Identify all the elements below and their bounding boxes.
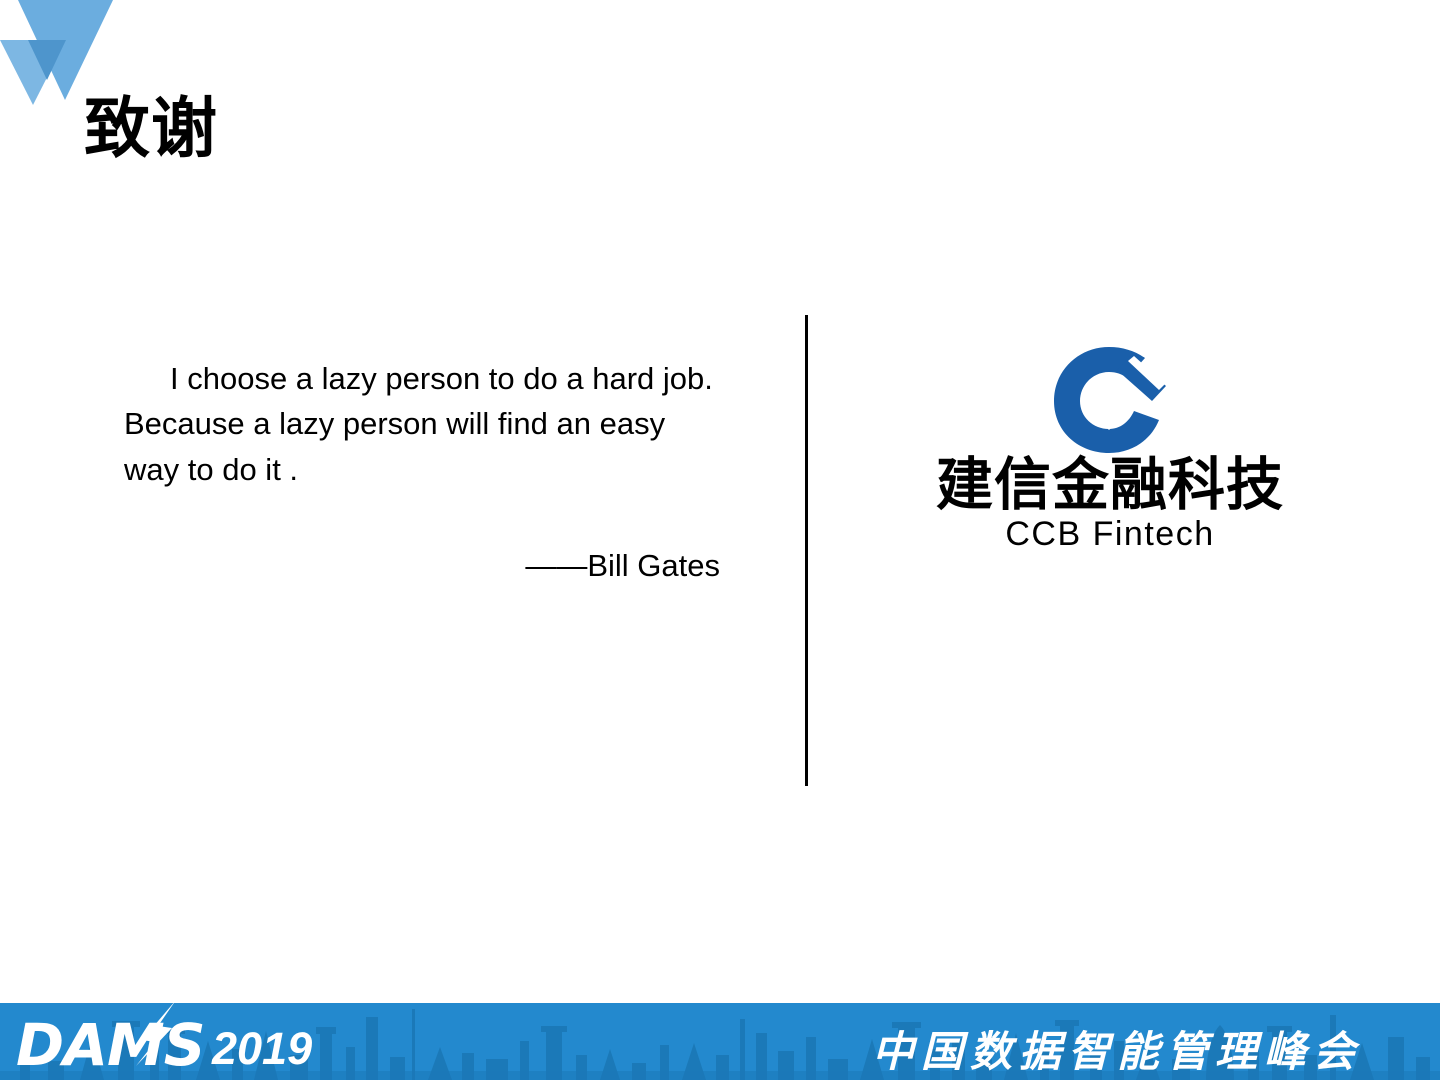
lightning-bolt-icon <box>128 1003 184 1066</box>
vertical-divider <box>805 315 808 786</box>
dams-logo: DAMS 2019 <box>16 1003 316 1078</box>
page-title: 致谢 <box>84 92 218 166</box>
quote-text: I choose a lazy person to do a hard job.… <box>124 356 724 492</box>
ccb-english-name: CCB Fintech <box>880 517 1340 551</box>
ccb-logo-mark-icon <box>1048 345 1170 455</box>
dams-year-text: 2019 <box>212 1026 312 1071</box>
ccb-fintech-logo: 建信金融科技 CCB Fintech <box>880 345 1340 560</box>
slide-canvas: 致谢 I choose a lazy person to do a hard j… <box>0 0 1440 1080</box>
ccb-chinese-name: 建信金融科技 <box>880 457 1340 514</box>
quote-block: I choose a lazy person to do a hard job.… <box>124 356 724 584</box>
quote-attribution: ——Bill Gates <box>124 548 724 584</box>
banner-chinese-title: 中国数据智能管理峰会 <box>872 1031 1362 1073</box>
bottom-banner: DAMS 2019 中国数据智能管理峰会 <box>0 1003 1440 1080</box>
